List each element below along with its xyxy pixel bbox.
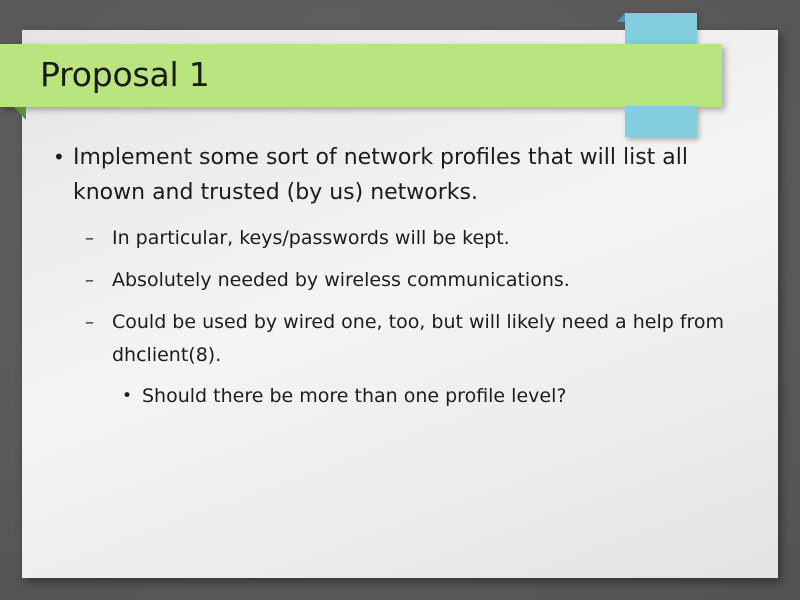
bullet-item-level-2: – Absolutely needed by wireless communic… (22, 264, 778, 297)
bullet-marker-dash-icon: – (85, 222, 112, 255)
bullet-text: Should there be more than one profile le… (142, 381, 722, 412)
bullet-item-level-2: – Could be used by wired one, too, but w… (22, 306, 778, 372)
bullet-marker-dash-icon: – (85, 306, 112, 339)
accent-bar-blue-fold-corner (617, 13, 625, 22)
bullet-item-level-1: • Implement some sort of network profile… (22, 140, 778, 210)
presentation-slide-frame: Proposal 1 • Implement some sort of netw… (0, 0, 800, 600)
bullet-item-level-3: • Should there be more than one profile … (22, 381, 778, 412)
accent-bar-blue-top (625, 13, 697, 45)
bullet-marker-dot-icon: • (53, 140, 73, 175)
bullet-text: Absolutely needed by wireless communicat… (112, 264, 732, 297)
bullet-marker-dash-icon: – (85, 264, 112, 297)
bullet-marker-dot-icon: • (122, 381, 142, 412)
bullet-text: In particular, keys/passwords will be ke… (112, 222, 732, 255)
bullet-item-level-2: – In particular, keys/passwords will be … (22, 222, 778, 255)
slide-title: Proposal 1 (40, 50, 210, 100)
title-banner-fold-corner (14, 107, 26, 120)
bullet-text: Could be used by wired one, too, but wil… (112, 306, 732, 372)
bullet-text: Implement some sort of network profiles … (73, 140, 763, 210)
slide-body-content: • Implement some sort of network profile… (22, 140, 778, 412)
accent-bar-blue-bottom (625, 106, 697, 137)
